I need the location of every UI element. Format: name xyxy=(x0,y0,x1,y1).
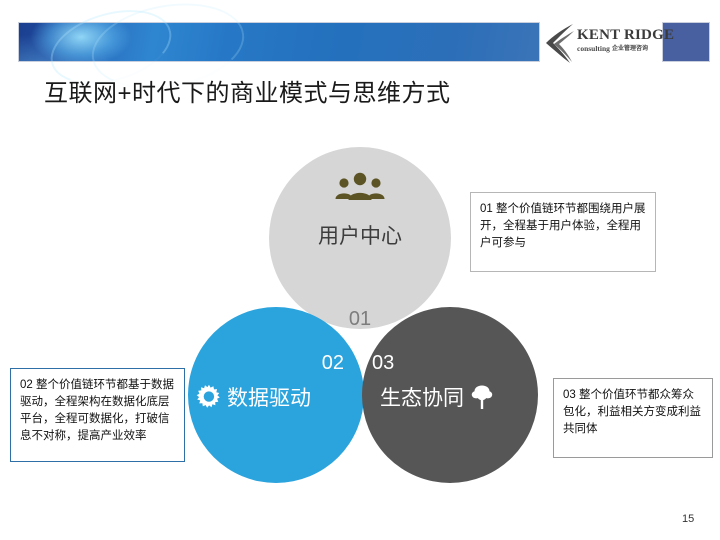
venn-label-user-center: 用户中心 xyxy=(269,220,451,250)
venn-number-01: 01 xyxy=(269,308,451,331)
page-number: 15 xyxy=(682,513,694,525)
venn-label-ecosystem: 生态协同 xyxy=(380,382,464,412)
venn-row-data-driven: 数据驱动 xyxy=(196,382,356,412)
people-group-icon xyxy=(330,172,390,202)
venn-row-ecosystem: 生态协同 xyxy=(380,382,540,412)
venn-label-data-driven: 数据驱动 xyxy=(227,382,311,412)
callout-box-01: 01 整个价值链环节都围绕用户展开，全程基于用户体验，全程用户可参与 xyxy=(470,192,656,272)
gear-icon xyxy=(196,384,222,410)
callout-box-02: 02 整个价值链环节都基于数据驱动，全程架构在数据化底层平台，全程可数据化，打破… xyxy=(10,368,185,462)
tree-icon xyxy=(470,384,494,410)
venn-number-02: 02 xyxy=(196,352,344,375)
callout-box-03: 03 整个价值环节都众筹众包化，利益相关方变成利益共同体 xyxy=(553,378,713,458)
venn-number-03: 03 xyxy=(372,352,432,375)
